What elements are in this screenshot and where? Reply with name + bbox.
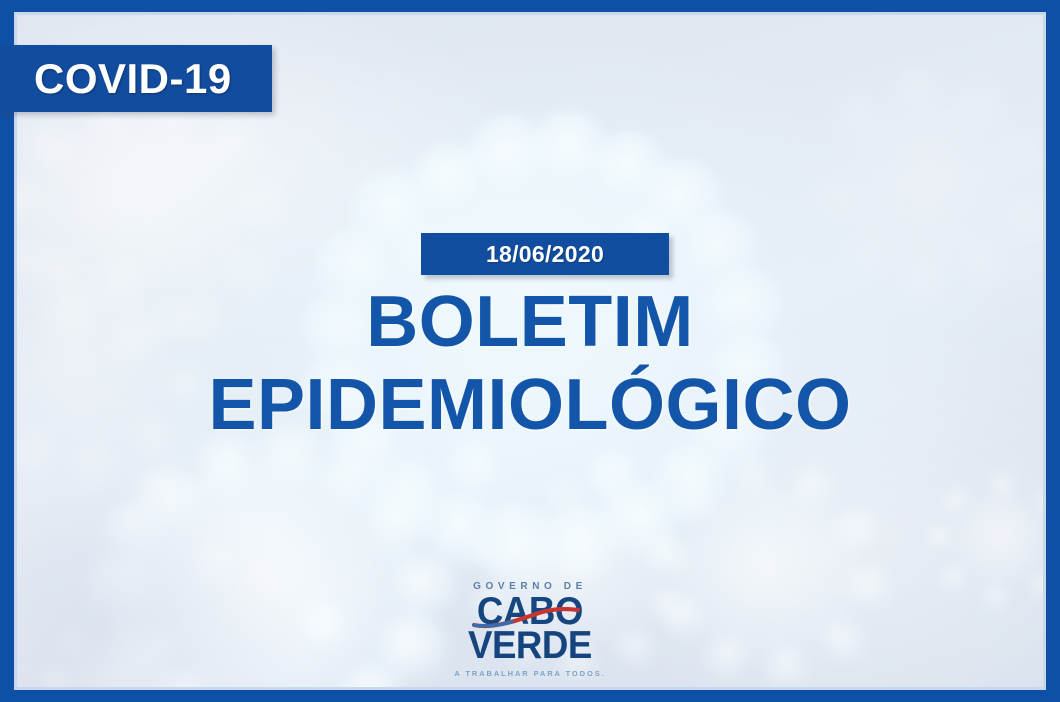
- virus-large-center-icon: [217, 85, 857, 625]
- page-title-line-2: EPIDEMIOLÓGICO: [17, 370, 1043, 441]
- logo-wordmark: CABO VERDE: [464, 595, 596, 664]
- government-logo: GOVERNO DE CABO VERDE A TRABALHAR PARA T…: [17, 582, 1043, 677]
- date-badge: 18/06/2020: [421, 233, 669, 275]
- virus-left-mid-icon: [17, 225, 227, 505]
- virus-upper-right-icon: [777, 45, 1043, 315]
- covid-badge-label: COVID-19: [34, 58, 232, 100]
- logo-tagline: A TRABALHAR PARA TODOS.: [17, 670, 1043, 678]
- covid-badge: COVID-19: [0, 45, 272, 112]
- page-title-line-1: BOLETIM: [17, 287, 1043, 358]
- poster-root: 18/06/2020 BOLETIM EPIDEMIOLÓGICO GOVERN…: [0, 0, 1060, 702]
- page-title: BOLETIM EPIDEMIOLÓGICO: [17, 287, 1043, 440]
- date-badge-label: 18/06/2020: [486, 243, 604, 266]
- logo-word-verde: VERDE: [468, 629, 592, 663]
- poster-canvas: 18/06/2020 BOLETIM EPIDEMIOLÓGICO GOVERN…: [17, 15, 1043, 687]
